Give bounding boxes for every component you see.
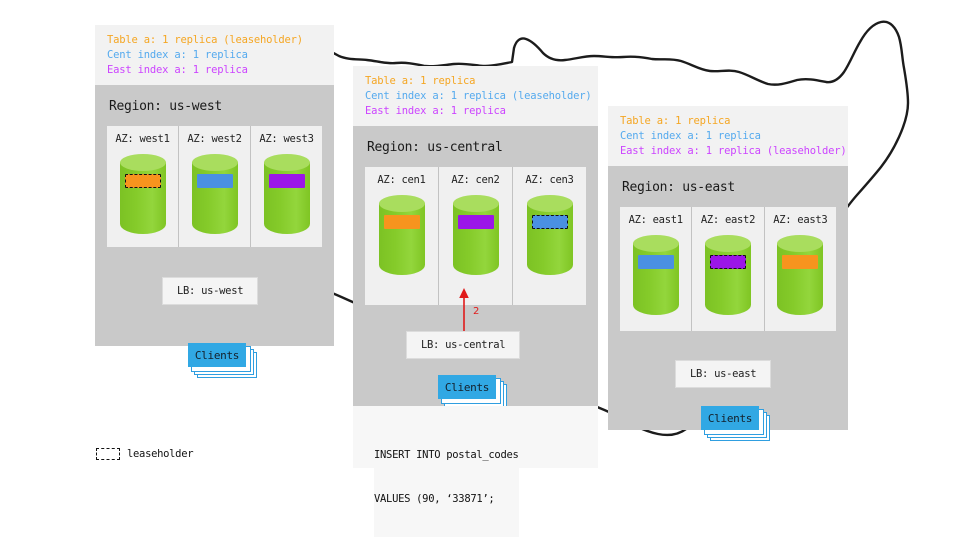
region-body-us-east: Region: us-east AZ: east1 AZ: east2 — [608, 166, 848, 430]
az-label-east2: AZ: east2 — [701, 214, 755, 226]
az-cen1[interactable]: AZ: cen1 — [365, 167, 439, 305]
replica-bar-east3 — [782, 255, 818, 269]
replica-line-east-index: East index a: 1 replica (leaseholder) — [620, 144, 838, 159]
az-row-us-east: AZ: east1 AZ: east2 AZ — [620, 207, 836, 331]
az-east1[interactable]: AZ: east1 — [620, 207, 692, 331]
replica-line-cent-index: Cent index a: 1 replica — [107, 48, 324, 63]
region-us-east: Table a: 1 replica Cent index a: 1 repli… — [608, 106, 848, 430]
sql-line-2: VALUES (90, ‘33871’; — [374, 492, 519, 507]
clients-us-central[interactable]: Clients — [438, 375, 500, 405]
arrow-step-label: 2 — [473, 306, 479, 317]
replica-bar-leaseholder-cen3 — [532, 215, 568, 229]
az-label-cen1: AZ: cen1 — [377, 174, 425, 186]
region-us-central: Table a: 1 replica Cent index a: 1 repli… — [353, 66, 598, 468]
az-east2[interactable]: AZ: east2 — [692, 207, 764, 331]
replica-line-table: Table a: 1 replica — [620, 114, 838, 129]
replica-summary-us-central: Table a: 1 replica Cent index a: 1 repli… — [353, 66, 598, 126]
replica-bar-west3 — [269, 174, 305, 188]
cylinder-cen1 — [379, 195, 425, 281]
dashed-rect-icon — [96, 448, 120, 460]
az-label-east3: AZ: east3 — [773, 214, 827, 226]
clients-label-us-west: Clients — [188, 343, 246, 367]
load-balancer-us-west[interactable]: LB: us-west — [162, 277, 258, 305]
az-east3[interactable]: AZ: east3 — [765, 207, 836, 331]
load-balancer-us-central[interactable]: LB: us-central — [406, 331, 520, 359]
sql-line-1: INSERT INTO postal_codes — [374, 448, 519, 463]
region-title-us-west: Region: us-west — [109, 99, 322, 114]
cylinder-east1 — [633, 235, 679, 317]
replica-line-cent-index: Cent index a: 1 replica — [620, 129, 838, 144]
sql-statement: INSERT INTO postal_codes VALUES (90, ‘33… — [374, 419, 519, 537]
cylinder-cen3 — [527, 195, 573, 281]
replica-line-table: Table a: 1 replica — [365, 74, 588, 89]
region-body-us-west: Region: us-west AZ: west1 AZ: west2 — [95, 85, 334, 346]
replica-summary-us-east: Table a: 1 replica Cent index a: 1 repli… — [608, 106, 848, 166]
replica-bar-cen1 — [384, 215, 420, 229]
replica-line-cent-index: Cent index a: 1 replica (leaseholder) — [365, 89, 588, 104]
az-west2[interactable]: AZ: west2 — [179, 126, 251, 247]
az-row-us-west: AZ: west1 AZ: west2 AZ — [107, 126, 322, 247]
clients-label-us-east: Clients — [701, 406, 759, 430]
cylinder-west1 — [120, 154, 166, 233]
az-cen2[interactable]: AZ: cen2 — [439, 167, 513, 305]
region-title-us-central: Region: us-central — [367, 140, 586, 155]
replica-bar-leaseholder-east2 — [710, 255, 746, 269]
cylinder-cen2 — [453, 195, 499, 281]
az-west3[interactable]: AZ: west3 — [251, 126, 322, 247]
clients-label-us-central: Clients — [438, 375, 496, 399]
load-balancer-us-east[interactable]: LB: us-east — [675, 360, 771, 388]
az-cen3[interactable]: AZ: cen3 — [513, 167, 586, 305]
az-label-west3: AZ: west3 — [259, 133, 313, 145]
az-label-west1: AZ: west1 — [115, 133, 169, 145]
region-title-us-east: Region: us-east — [622, 180, 836, 195]
cylinder-east2 — [705, 235, 751, 317]
replica-summary-us-west: Table a: 1 replica (leaseholder) Cent in… — [95, 25, 334, 85]
legend-leaseholder: leaseholder — [96, 448, 193, 460]
az-label-cen3: AZ: cen3 — [525, 174, 573, 186]
clients-us-east[interactable]: Clients — [701, 406, 763, 436]
replica-bar-east1 — [638, 255, 674, 269]
az-label-east1: AZ: east1 — [629, 214, 683, 226]
replica-bar-cen2 — [458, 215, 494, 229]
replica-line-east-index: East index a: 1 replica — [365, 104, 588, 119]
replica-bar-leaseholder-west1 — [125, 174, 161, 188]
sql-panel: INSERT INTO postal_codes VALUES (90, ‘33… — [353, 406, 598, 468]
replica-line-east-index: East index a: 1 replica — [107, 63, 324, 78]
cylinder-west2 — [192, 154, 238, 233]
az-row-us-central: AZ: cen1 AZ: cen2 AZ: — [365, 167, 586, 305]
region-body-us-central: Region: us-central AZ: cen1 AZ: cen2 — [353, 126, 598, 406]
replica-line-table: Table a: 1 replica (leaseholder) — [107, 33, 324, 48]
diagram-canvas: Table a: 1 replica (leaseholder) Cent in… — [0, 0, 960, 540]
legend-label: leaseholder — [127, 448, 193, 460]
clients-us-west[interactable]: Clients — [188, 343, 250, 373]
replica-bar-west2 — [197, 174, 233, 188]
region-us-west: Table a: 1 replica (leaseholder) Cent in… — [95, 25, 334, 346]
cylinder-east3 — [777, 235, 823, 317]
az-west1[interactable]: AZ: west1 — [107, 126, 179, 247]
cylinder-west3 — [264, 154, 310, 233]
az-label-west2: AZ: west2 — [187, 133, 241, 145]
az-label-cen2: AZ: cen2 — [451, 174, 499, 186]
